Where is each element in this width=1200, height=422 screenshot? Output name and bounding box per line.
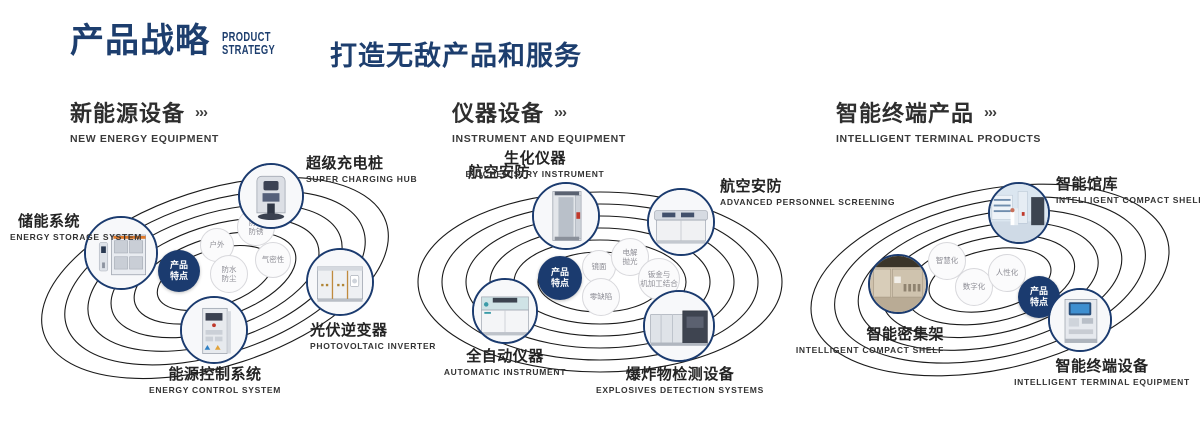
label-biochemistry-instrument: 生化仪器 BIOCHEMISTRY INSTRUMENT	[460, 150, 610, 180]
explosive-detector-icon	[645, 292, 713, 360]
pv-inverter-cabinet-icon	[308, 250, 372, 314]
chevron-right-icon: ›››	[554, 104, 566, 121]
node-intelligent-compact-shelf[interactable]	[868, 254, 928, 314]
node-intelligent-library[interactable]	[988, 182, 1050, 244]
kiosk-terminal-icon	[1050, 290, 1110, 350]
core-badge-product-features: 产品 特点	[158, 250, 200, 292]
section-title-intelligent-terminal: 智能终端产品 ››› INTELLIGENT TERMINAL PRODUCTS	[836, 96, 1041, 145]
label-automatic-instrument: 全自动仪器 AUTOMATIC INSTRUMENT	[424, 348, 586, 378]
node-photovoltaic-inverter[interactable]	[306, 248, 374, 316]
label-explosives-detection-systems: 爆炸物检测设备 EXPLOSIVES DETECTION SYSTEMS	[596, 366, 764, 396]
page-title-en-line2: STRATEGY	[222, 43, 275, 56]
section-title-cn: 仪器设备 ›››	[452, 96, 626, 128]
chevron-right-icon: ›››	[984, 104, 996, 121]
node-automatic-instrument[interactable]	[472, 278, 538, 344]
section-title-en: NEW ENERGY EQUIPMENT	[70, 133, 219, 145]
label-intelligent-compact-shelf: 智能密集架 INTELLIGENT COMPACT SHELF	[784, 326, 944, 356]
section-title-en: INTELLIGENT TERMINAL PRODUCTS	[836, 133, 1041, 145]
section-title-instrument: 仪器设备 ››› INSTRUMENT AND EQUIPMENT	[452, 96, 626, 145]
node-advanced-personnel-screening[interactable]	[647, 188, 715, 256]
page-title: 产品战略	[70, 24, 210, 58]
node-biochemistry-instrument[interactable]	[532, 182, 600, 250]
page-title-en-line1: PRODUCT	[222, 30, 275, 43]
cluster-instrument: 产品 特点 镜面 电解 抛光 零缺陷 钣金与 机加工结合 航空安防 生化仪器 B…	[400, 150, 800, 400]
label-energy-storage-system: 储能系统 ENERGY STORAGE SYSTEM	[10, 213, 80, 243]
auto-analyzer-icon	[474, 280, 536, 342]
cluster-new-energy: 产品 特点 户外 防腐 防锈 防水 防尘 气密性 储能系统 ENER	[10, 150, 410, 400]
node-super-charging-hub[interactable]	[238, 163, 304, 229]
label-energy-control-system: 能源控制系统 ENERGY CONTROL SYSTEM	[128, 366, 302, 396]
node-explosives-detection-systems[interactable]	[643, 290, 715, 362]
page-header: 产品战略 PRODUCT STRATEGY	[70, 24, 296, 58]
core-badge-product-features: 产品 特点	[538, 256, 582, 300]
feature-bubble-zero-defect: 零缺陷	[582, 278, 620, 316]
security-gate-icon	[534, 184, 598, 248]
page-subtitle: 打造无敌产品和服务	[330, 34, 582, 73]
node-intelligent-terminal-equipment[interactable]	[1048, 288, 1112, 352]
label-intelligent-library: 智能馆库 INTELLIGENT COMPACT SHELF	[1056, 176, 1200, 206]
feature-bubble-waterproof: 防水 防尘	[210, 255, 248, 293]
control-cabinet-icon	[182, 298, 246, 362]
feature-bubble-airtight: 气密性	[255, 242, 291, 278]
energy-storage-cabinet-icon	[86, 218, 156, 288]
library-room-icon	[990, 184, 1048, 242]
node-energy-control-system[interactable]	[180, 296, 248, 364]
page-title-en: PRODUCT STRATEGY	[222, 30, 275, 57]
cluster-intelligent-terminal: 智慧化 数字化 人性化 产品 特点 智能馆库 INTELLIGENT COMPA…	[800, 150, 1200, 400]
label-intelligent-terminal-equipment: 智能终端设备 INTELLIGENT TERMINAL EQUIPMENT	[1004, 358, 1200, 388]
section-title-new-energy: 新能源设备 ››› NEW ENERGY EQUIPMENT	[70, 96, 219, 145]
chevron-right-icon: ›››	[195, 104, 207, 121]
charging-pile-icon	[240, 165, 302, 227]
screening-machine-icon	[649, 190, 713, 254]
section-title-en: INSTRUMENT AND EQUIPMENT	[452, 133, 626, 145]
compact-shelf-icon	[870, 256, 926, 312]
section-title-cn: 智能终端产品 ›››	[836, 96, 1041, 128]
node-energy-storage-system[interactable]	[84, 216, 158, 290]
section-title-cn: 新能源设备 ›››	[70, 96, 219, 128]
